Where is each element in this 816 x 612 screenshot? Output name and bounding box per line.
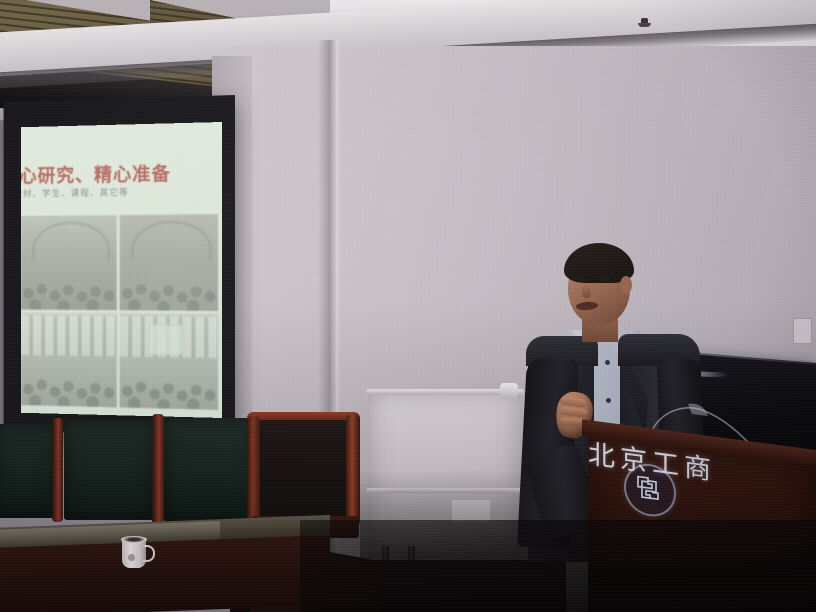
photo-scene: 精心研究、精心准备 、教材、学生、课程、其它等 — [0, 0, 816, 612]
slide-photo-4 — [119, 313, 218, 410]
teacup-logo — [128, 554, 135, 561]
slide-title: 精心研究、精心准备 — [21, 159, 171, 188]
slide-photo-grid — [21, 214, 218, 410]
slide-photo-3 — [21, 312, 116, 407]
chair-back — [164, 418, 259, 522]
presenter-nose — [582, 285, 591, 298]
wall-outlet-plate — [793, 318, 812, 344]
slide-photo-2 — [119, 214, 218, 310]
teacup-rim — [121, 536, 147, 543]
chair-back — [64, 420, 154, 520]
projection-screen: 精心研究、精心准备 、教材、学生、课程、其它等 — [21, 122, 222, 418]
armchair-stile-left — [247, 416, 260, 524]
shirt-button — [606, 398, 611, 403]
chair-back — [0, 424, 56, 518]
shirt-button — [605, 360, 610, 365]
armchair-stile-right — [346, 414, 360, 526]
slide-photo-1 — [21, 215, 116, 310]
radiator-valve — [500, 383, 518, 399]
chair-frame-post — [152, 414, 164, 526]
armchair-back-panel — [255, 420, 351, 516]
chair-frame-post — [52, 418, 63, 522]
presenter-ear — [620, 276, 632, 294]
sprinkler-icon — [638, 18, 651, 29]
slide-subtitle: 、教材、学生、课程、其它等 — [21, 185, 129, 199]
floor-foreground — [300, 520, 816, 612]
conference-table-apron — [0, 535, 330, 612]
white-teacup — [122, 538, 148, 570]
